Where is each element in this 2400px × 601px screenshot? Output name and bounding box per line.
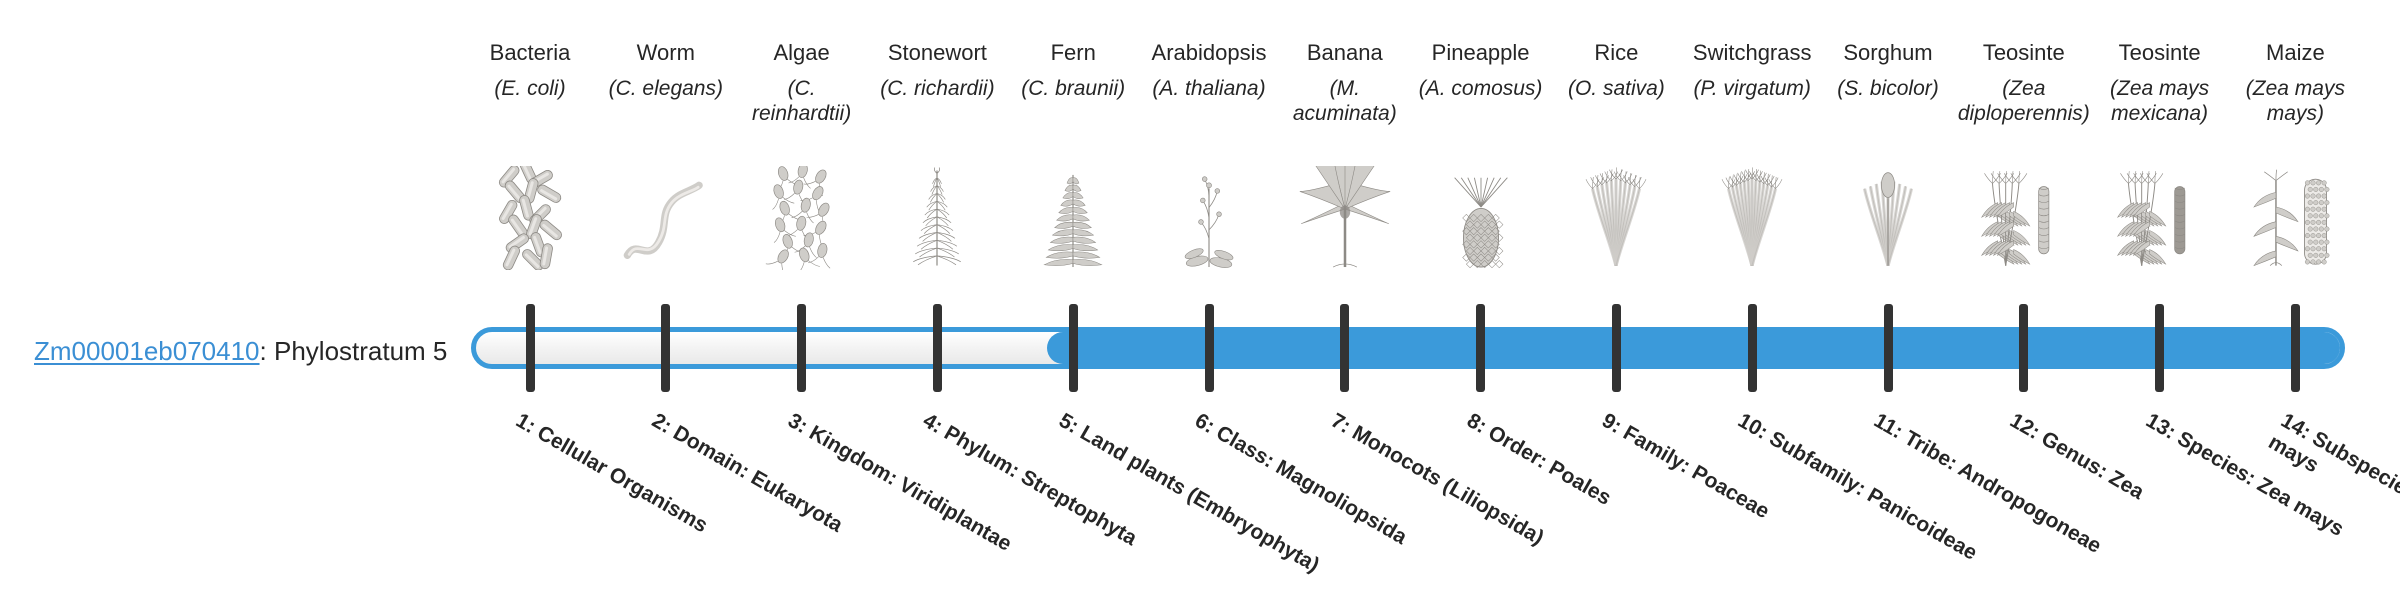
rank-number: 5: xyxy=(1055,409,1083,438)
teosinte-diploperennis-illustration xyxy=(1956,160,2092,270)
species-column: Stonewort (C. richardii) xyxy=(869,0,1005,101)
phylostratum-bar[interactable] xyxy=(471,327,2345,369)
species-common-name: Stonewort xyxy=(869,40,1005,66)
rank-text: Tribe: Andropogoneae xyxy=(1900,426,2105,558)
rank-number: 8: xyxy=(1463,409,1491,438)
species-column: Banana (M. acuminata) xyxy=(1277,0,1413,126)
species-latin-name: (P. virgatum) xyxy=(1684,76,1820,101)
rank-number: 9: xyxy=(1598,409,1626,438)
gene-phylostratum-label: Zm00001eb070410: Phylostratum 5 xyxy=(34,336,447,366)
rank-number: 2: xyxy=(648,409,676,438)
arabidopsis-illustration xyxy=(1141,160,1277,270)
rank-label: 14: Subspecies: Zea mays mays xyxy=(2264,408,2400,601)
phylostratum-tick[interactable] xyxy=(1340,304,1349,392)
species-latin-name: (A. comosus) xyxy=(1413,76,1549,101)
rank-text: Class: Magnoliopsida xyxy=(1212,421,1410,549)
phylostratum-tick[interactable] xyxy=(933,304,942,392)
species-common-name: Algae xyxy=(734,40,870,66)
switchgrass-illustration xyxy=(1684,160,1820,270)
rank-label: 13: Species: Zea mays xyxy=(2141,408,2400,580)
rank-text: Order: Poales xyxy=(1484,421,1615,510)
rank-label: 6: Class: Magnoliopsida xyxy=(1191,408,1463,580)
banana-illustration xyxy=(1277,160,1413,270)
sorghum-illustration xyxy=(1820,160,1956,270)
rank-text: Species: Zea mays xyxy=(2173,427,2347,541)
rank-text: Land plants (Embryophyta) xyxy=(1076,421,1323,577)
species-latin-name: (C. reinhardtii) xyxy=(734,76,870,126)
species-column: Rice (O. sativa) xyxy=(1548,0,1684,101)
phylostratum-tick[interactable] xyxy=(1476,304,1485,392)
rank-number: 14: xyxy=(2277,409,2315,444)
species-latin-name: (Zea mays mays) xyxy=(2227,76,2363,126)
species-common-name: Teosinte xyxy=(2092,40,2228,66)
label-separator: : xyxy=(260,336,274,366)
rank-label: 5: Land plants (Embryophyta) xyxy=(1055,408,1327,580)
rank-text: Family: Poaceae xyxy=(1620,421,1774,523)
rank-label: 12: Genus: Zea xyxy=(2005,408,2277,580)
species-column: Arabidopsis (A. thaliana) xyxy=(1141,0,1277,101)
rank-number: 6: xyxy=(1191,409,1219,438)
species-latin-name: (C. elegans) xyxy=(598,76,734,101)
rank-text: Phylum: Streptophyta xyxy=(941,421,1141,550)
rank-label: 9: Family: Poaceae xyxy=(1598,408,1870,580)
phylostratum-track: Zm00001eb070410: Phylostratum 5 Bacteria… xyxy=(0,0,2400,580)
fern-illustration xyxy=(1005,160,1141,270)
phylostratum-tick[interactable] xyxy=(526,304,535,392)
phylostratum-tick[interactable] xyxy=(2291,304,2300,392)
stonewort-illustration xyxy=(869,160,1005,270)
species-latin-name: (A. thaliana) xyxy=(1141,76,1277,101)
species-latin-name: (C. richardii) xyxy=(869,76,1005,101)
species-latin-name: (O. sativa) xyxy=(1548,76,1684,101)
rank-label: 8: Order: Poales xyxy=(1462,408,1734,580)
phylostratum-tick[interactable] xyxy=(661,304,670,392)
rank-number: 11: xyxy=(1870,409,1907,444)
rank-number: 10: xyxy=(1734,409,1772,444)
rank-text: Monocots (Liliopsida) xyxy=(1348,421,1547,549)
phylostratum-tick[interactable] xyxy=(1205,304,1214,392)
algae-illustration xyxy=(734,160,870,270)
rank-text: Cellular Organisms xyxy=(533,421,711,537)
rice-illustration xyxy=(1548,160,1684,270)
phylostratum-tick[interactable] xyxy=(1069,304,1078,392)
rank-number: 4: xyxy=(919,409,947,438)
bar-outline xyxy=(471,327,2345,369)
species-column: Algae (C. reinhardtii) xyxy=(734,0,870,126)
rank-label: 10: Subfamily: Panicoideae xyxy=(1734,408,2006,580)
rank-number: 3: xyxy=(784,409,812,438)
species-common-name: Banana xyxy=(1277,40,1413,66)
species-column: Teosinte (Zea diploperennis) xyxy=(1956,0,2092,126)
rank-text: Kingdom: Viridiplantae xyxy=(805,421,1015,556)
rank-label: 4: Phylum: Streptophyta xyxy=(919,408,1191,580)
rank-label: 7: Monocots (Liliopsida) xyxy=(1326,408,1598,580)
rank-label: 3: Kingdom: Viridiplantae xyxy=(783,408,1055,580)
worm-illustration xyxy=(598,160,734,270)
rank-number: 13: xyxy=(2142,409,2180,444)
phylostratum-tick[interactable] xyxy=(797,304,806,392)
species-common-name: Sorghum xyxy=(1820,40,1956,66)
species-column: Maize (Zea mays mays) xyxy=(2227,0,2363,126)
bar-fill xyxy=(1047,332,2340,364)
species-column: Teosinte (Zea mays mexicana) xyxy=(2092,0,2228,126)
species-column: Bacteria (E. coli) xyxy=(462,0,598,101)
teosinte-mexicana-illustration xyxy=(2092,160,2228,270)
rank-label: 11: Tribe: Andropogoneae xyxy=(1870,408,2142,580)
species-common-name: Maize xyxy=(2227,40,2363,66)
species-latin-name: (C. braunii) xyxy=(1005,76,1141,101)
rank-number: 12: xyxy=(2006,409,2044,444)
rank-text: Domain: Eukaryota xyxy=(669,421,846,537)
pineapple-illustration xyxy=(1413,160,1549,270)
phylostratum-tick[interactable] xyxy=(1748,304,1757,392)
species-latin-name: (Zea diploperennis) xyxy=(1956,76,2092,126)
species-latin-name: (S. bicolor) xyxy=(1820,76,1956,101)
maize-illustration xyxy=(2227,160,2363,270)
rank-label: 1: Cellular Organisms xyxy=(512,408,784,580)
species-common-name: Rice xyxy=(1548,40,1684,66)
rank-number: 7: xyxy=(1327,409,1355,438)
species-column: Pineapple (A. comosus) xyxy=(1413,0,1549,101)
species-common-name: Bacteria xyxy=(462,40,598,66)
species-latin-name: (Zea mays mexicana) xyxy=(2092,76,2228,126)
phylostratum-tick[interactable] xyxy=(2019,304,2028,392)
bacteria-illustration xyxy=(462,160,598,270)
species-common-name: Arabidopsis xyxy=(1141,40,1277,66)
phylostratum-tick[interactable] xyxy=(2155,304,2164,392)
rank-text: Subfamily: Panicoideae xyxy=(1766,427,1982,565)
species-common-name: Worm xyxy=(598,40,734,66)
rank-text: Genus: Zea xyxy=(2037,427,2148,504)
phylostratum-value: Phylostratum 5 xyxy=(274,336,447,366)
phylostratum-tick[interactable] xyxy=(1612,304,1621,392)
species-latin-name: (E. coli) xyxy=(462,76,598,101)
gene-accession-link[interactable]: Zm00001eb070410 xyxy=(34,336,260,366)
species-common-name: Fern xyxy=(1005,40,1141,66)
species-column: Worm (C. elegans) xyxy=(598,0,734,101)
species-common-name: Pineapple xyxy=(1413,40,1549,66)
species-common-name: Switchgrass xyxy=(1684,40,1820,66)
phylostratum-tick[interactable] xyxy=(1884,304,1893,392)
rank-label: 2: Domain: Eukaryota xyxy=(647,408,919,580)
species-column: Sorghum (S. bicolor) xyxy=(1820,0,1956,101)
species-column: Fern (C. braunii) xyxy=(1005,0,1141,101)
species-column: Switchgrass (P. virgatum) xyxy=(1684,0,1820,101)
species-common-name: Teosinte xyxy=(1956,40,2092,66)
rank-number: 1: xyxy=(512,409,540,438)
species-latin-name: (M. acuminata) xyxy=(1277,76,1413,126)
rank-text: Subspecies: Zea mays mays xyxy=(2265,427,2400,560)
